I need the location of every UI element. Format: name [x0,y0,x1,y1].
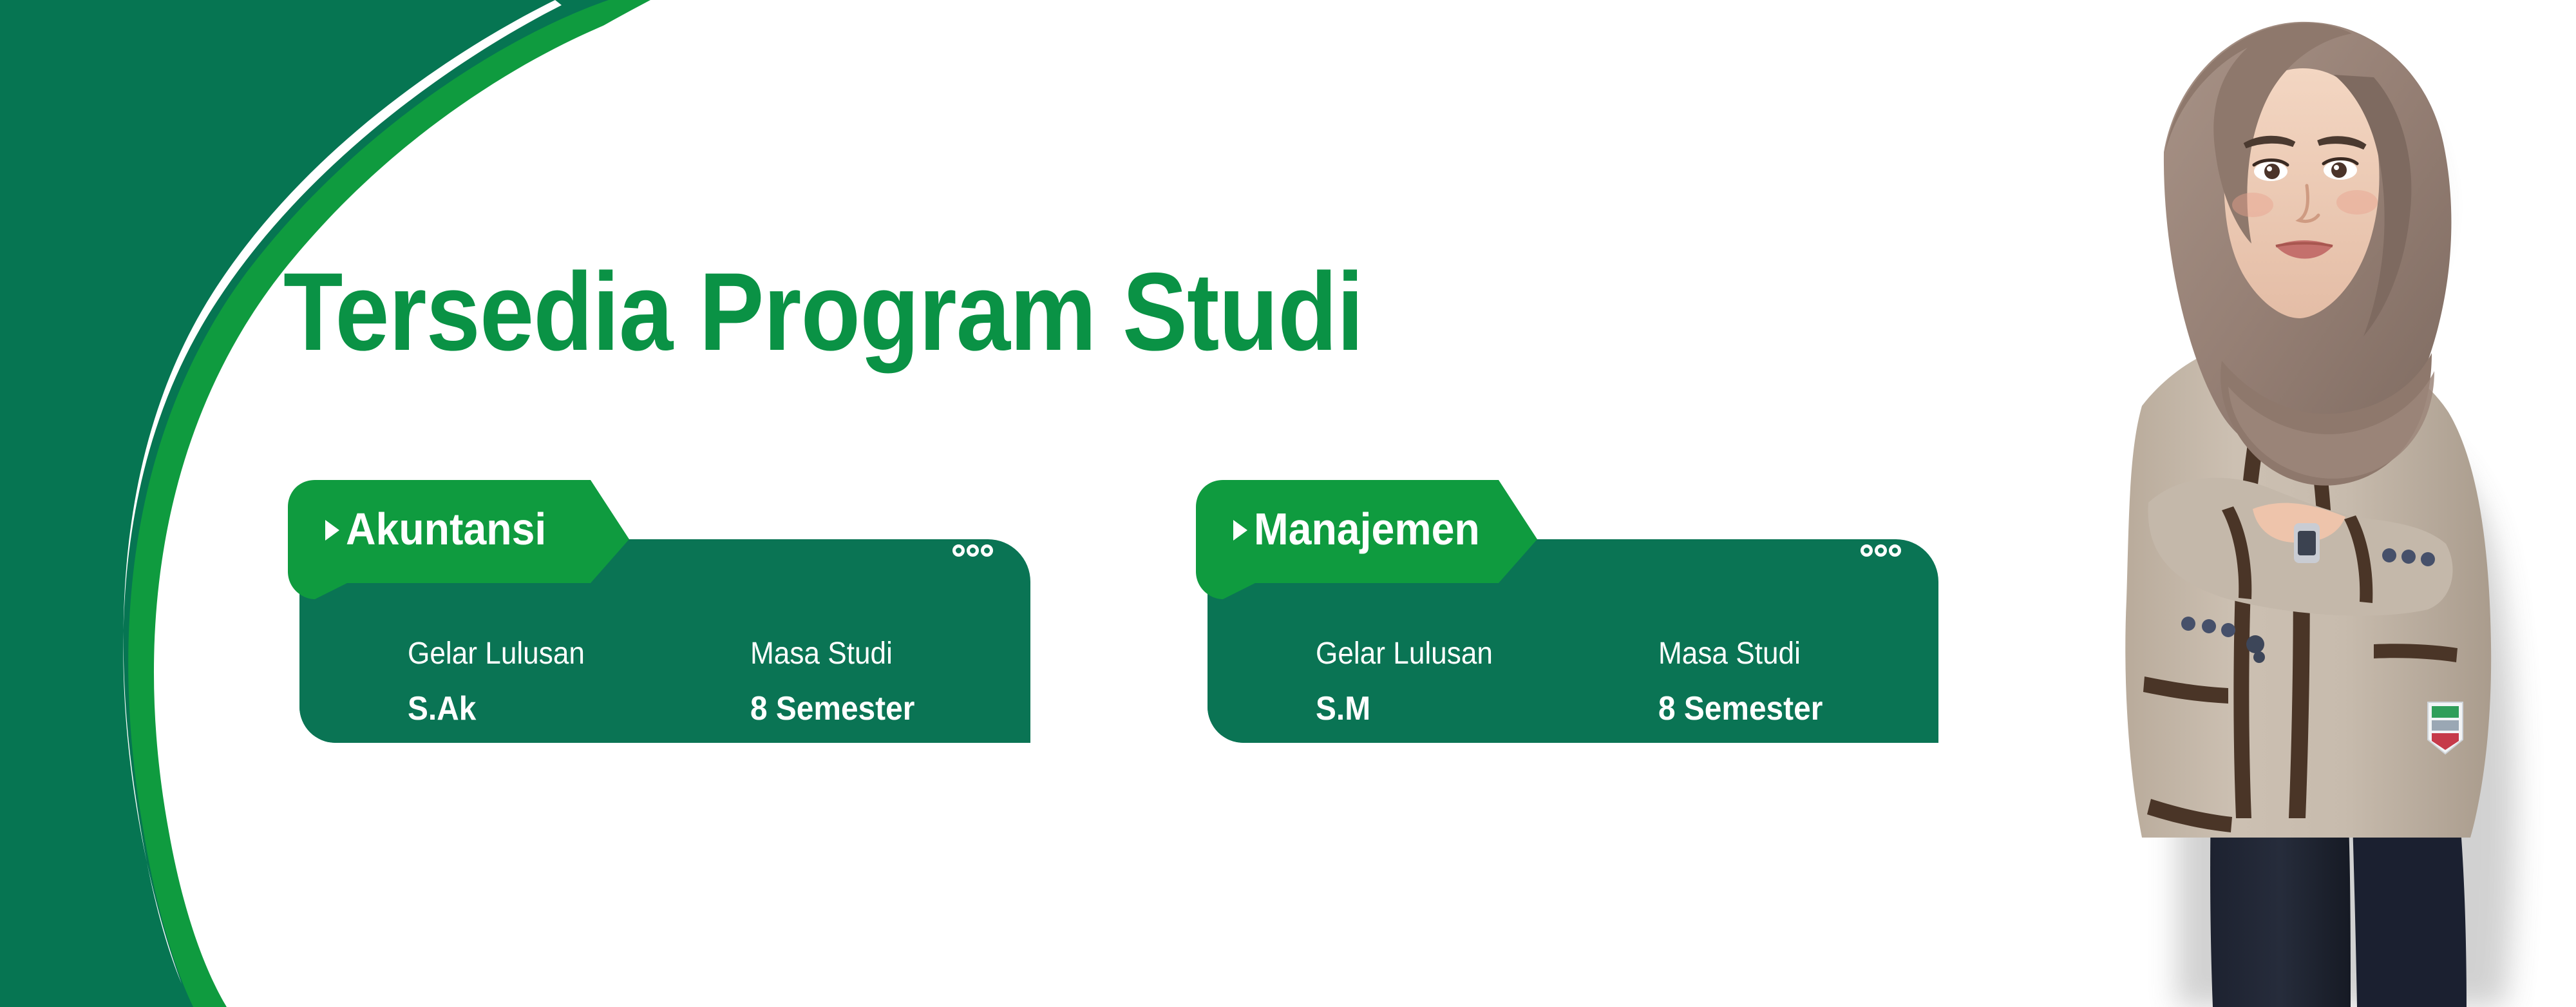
program-card-akuntansi[interactable]: Akuntansi Gelar Lulusan S.Ak Masa Studi … [299,480,1030,743]
stat-value: S.M [1316,689,1493,728]
stat-label: Gelar Lulusan [408,636,585,671]
stat-label: Masa Studi [1658,636,1823,671]
stat-masa-studi: Masa Studi 8 Semester [750,636,929,728]
stat-label: Gelar Lulusan [1316,636,1493,671]
stat-gelar-lulusan: Gelar Lulusan S.M [1316,636,1508,728]
stat-gelar-lulusan: Gelar Lulusan S.Ak [408,636,600,728]
play-arrow-icon [325,520,339,541]
stat-masa-studi: Masa Studi 8 Semester [1658,636,1837,728]
program-stats: Gelar Lulusan S.M Masa Studi 8 Semester [1207,539,1938,743]
play-arrow-icon [1233,520,1247,541]
program-card-manajemen[interactable]: Manajemen Gelar Lulusan S.M Masa Studi 8… [1207,480,1938,743]
program-stats: Gelar Lulusan S.Ak Masa Studi 8 Semester [299,539,1030,743]
stat-value: 8 Semester [750,689,914,728]
banner-canvas: Tersedia Program Studi Akuntansi Gelar L… [0,0,2576,1007]
page-title: Tersedia Program Studi [283,256,1363,367]
stat-label: Masa Studi [750,636,914,671]
stat-value: S.Ak [408,689,585,728]
student-photo [2016,0,2576,1007]
stat-value: 8 Semester [1658,689,1823,728]
